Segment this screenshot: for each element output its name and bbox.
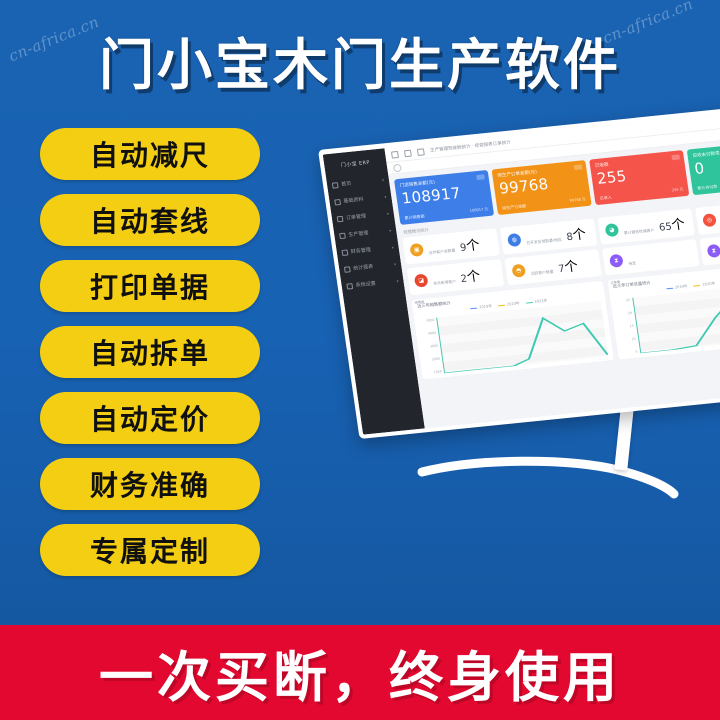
sidebar-item-label: 系统设置: [355, 278, 394, 289]
y-tick: 15: [629, 324, 634, 328]
metric-unit: 个: [465, 238, 480, 254]
stat-card-note: 99768 元: [569, 197, 586, 204]
user-group-icon: ◕: [605, 223, 620, 237]
legend-label: 2021年: [534, 298, 547, 304]
pending-icon: ⧗: [609, 254, 624, 268]
chevron-down-icon: ▾: [391, 245, 394, 250]
feature-pill: 打印单据: [40, 260, 260, 312]
feature-pill-label: 自动拆单: [90, 332, 210, 372]
gear-icon: [346, 283, 353, 290]
y-tick: 4000: [428, 331, 437, 336]
legend-label: 2019年: [675, 284, 688, 290]
chart-orders: 近三年订单总量统计 2019年 2020年 2021年 订单量 25: [607, 261, 720, 360]
pending-icon: ⧗: [707, 244, 720, 258]
wallet-icon: [341, 249, 348, 256]
refresh-icon[interactable]: [404, 149, 412, 157]
add-user-icon: ◪: [414, 274, 429, 288]
metric-label: 累计服务终端客户: [624, 227, 655, 235]
metric-label: 合作客户总数量: [428, 248, 455, 256]
feature-pill-label: 自动减尺: [90, 134, 210, 174]
stat-card-received[interactable]: 已收款 255 已收入 255 元: [589, 150, 689, 205]
bottom-banner: 一次买断，终身使用: [0, 625, 720, 720]
chevron-down-icon: ▾: [386, 211, 389, 216]
globe-icon: ◍: [507, 233, 522, 247]
dashboard-main: 生产管理驾驶舱统计 · 经营报表订单统计 门店销售总额(元) 108917 累: [384, 108, 720, 428]
chevron-down-icon: ▾: [384, 194, 387, 199]
chart-icon: [344, 266, 351, 273]
feature-pill-label: 打印单据: [90, 266, 210, 306]
feature-pill: 自动减尺: [40, 128, 260, 180]
order-icon: ◎: [702, 213, 717, 227]
sidebar-item-label: 首页: [341, 177, 380, 188]
metric-unit: 个: [572, 227, 587, 243]
stat-card-footer: 待生产订单额: [502, 203, 527, 211]
metric-label: 已开发区域数量/地区: [526, 237, 562, 246]
order-icon: [337, 215, 344, 222]
feature-pill: 专属定制: [40, 524, 260, 576]
stat-card-pending-production[interactable]: 待生产订单金额(元) 99768 待生产订单额 99768 元: [492, 160, 592, 215]
poster-root: cn-africa.cn cn-africa.cn cn-africa.cn c…: [0, 0, 720, 720]
shop-icon: ▣: [409, 243, 424, 257]
y-tick: 20: [628, 311, 633, 315]
feature-pill: 自动拆单: [40, 326, 260, 378]
menu-icon[interactable]: [391, 150, 399, 158]
chart-sales: 近三年销售额统计 2019年 2020年 2021年 销售额 5000: [411, 281, 613, 380]
feature-pill-label: 自动定价: [90, 398, 210, 438]
metric-unit: 个: [671, 217, 686, 233]
feature-pill-label: 自动套线: [90, 200, 210, 240]
feature-pill-list: 自动减尺 自动套线 打印单据 自动拆单 自动定价 财务准确 专属定制: [40, 128, 260, 576]
avatar[interactable]: [393, 163, 402, 172]
database-icon: [334, 198, 341, 205]
y-tick: 10: [631, 337, 636, 341]
sidebar-item-label: 订单管理: [345, 211, 384, 222]
chevron-down-icon: ▾: [389, 228, 392, 233]
search-icon[interactable]: [417, 148, 425, 156]
feature-pill: 自动定价: [40, 392, 260, 444]
metric-unit: 个: [564, 259, 579, 275]
chart-y-axis-label: 销售额: [414, 299, 424, 305]
y-tick: 25: [626, 298, 631, 302]
home-icon: [332, 182, 339, 189]
metric-label: 活跃客户数量: [530, 269, 553, 276]
sidebar-item-label: 统计报表: [353, 261, 392, 272]
stat-card-note: 108917 元: [469, 207, 488, 214]
sidebar-item-label: 生产管理: [348, 227, 387, 238]
metric-cell-placeholder-2[interactable]: ⧗ 待定: [700, 229, 720, 265]
y-tick: 5: [635, 350, 638, 354]
stat-card-footer: 累计销售额: [404, 214, 425, 222]
legend-item[interactable]: 2020年: [498, 301, 520, 308]
y-tick: 1000: [433, 369, 442, 374]
feature-pill-label: 财务准确: [90, 464, 210, 504]
dashboard-app: 门小宝 ERP 首页 ▾ 基础资料 ▾: [323, 108, 720, 435]
legend-label: 2020年: [702, 281, 715, 287]
legend-label: 2019年: [479, 304, 492, 310]
stat-card-sales[interactable]: 门店销售总额(元) 108917 累计销售额 108917 元: [394, 170, 494, 225]
chevron-down-icon: ▾: [382, 177, 385, 182]
factory-icon: [339, 232, 346, 239]
feature-pill: 财务准确: [40, 458, 260, 510]
metric-unit: 个: [466, 269, 481, 285]
chart-y-axis-label: 订单量: [610, 279, 620, 285]
sidebar-item-label: 基础资料: [343, 194, 382, 205]
monitor-screen: 门小宝 ERP 首页 ▾ 基础资料 ▾: [318, 102, 720, 446]
feature-pill-label: 专属定制: [90, 530, 210, 570]
feature-pill: 自动套线: [40, 194, 260, 246]
legend-item[interactable]: 2019年: [666, 284, 688, 291]
monitor-bezel: 门小宝 ERP 首页 ▾ 基础资料 ▾: [318, 103, 720, 439]
page-title: 门小宝木门生产软件: [0, 34, 720, 96]
y-tick: 5000: [426, 318, 435, 323]
active-user-icon: ◓: [511, 264, 526, 278]
stat-card-footer: 累计待付款: [697, 184, 718, 192]
metric-label: 本月新增客户: [433, 279, 456, 286]
chevron-down-icon: ▾: [394, 262, 397, 267]
stat-card-footer: 已收入: [599, 195, 612, 202]
chevron-down-icon: ▾: [396, 278, 399, 283]
stat-card-note: 255 元: [671, 187, 683, 193]
monitor-mockup: 门小宝 ERP 首页 ▾ 基础资料 ▾: [318, 150, 720, 480]
bottom-banner-text: 一次买断，终身使用: [99, 633, 621, 712]
legend-item[interactable]: 2019年: [470, 304, 492, 311]
legend-label: 2020年: [507, 301, 520, 307]
legend-item[interactable]: 2020年: [693, 281, 715, 288]
y-tick: 3000: [430, 344, 439, 349]
metric-label: 待定: [628, 260, 636, 266]
sidebar-item-label: 财务管理: [350, 244, 389, 255]
stat-card-payable[interactable]: 应收未付款项 0 累计待付款: [687, 140, 720, 195]
legend-item[interactable]: 2021年: [525, 298, 547, 305]
monitor-stand: [418, 450, 688, 496]
y-tick: 2000: [432, 357, 441, 362]
